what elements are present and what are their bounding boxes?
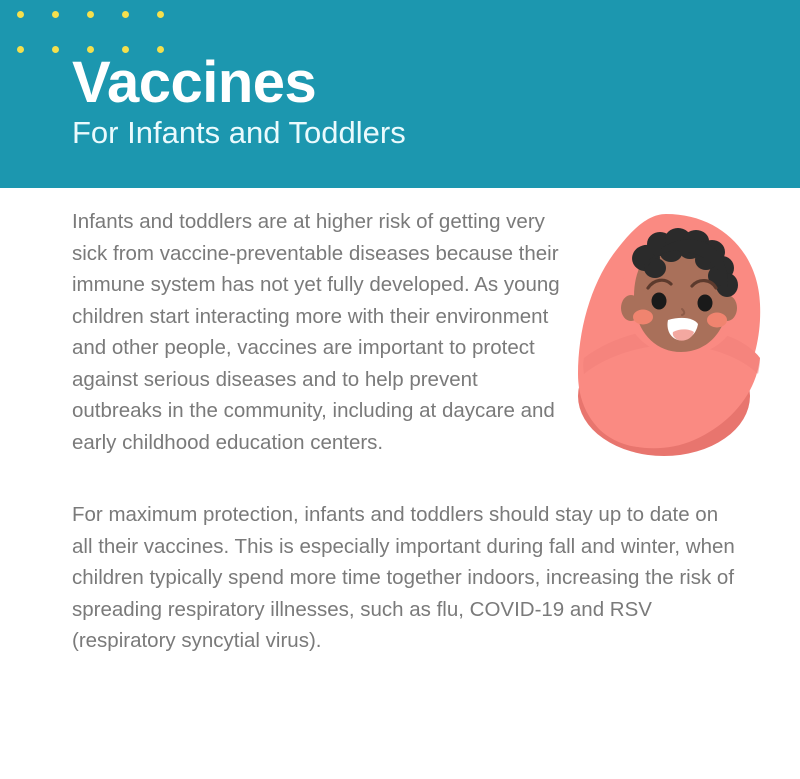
dot xyxy=(52,46,59,53)
dot xyxy=(52,11,59,18)
paragraph-protection-advice: For maximum protection, infants and todd… xyxy=(72,499,744,657)
footer-logos: COUNTY OF LOS ANGELES Public Health xyxy=(0,700,800,779)
title-block: Vaccines For Infants and Toddlers xyxy=(72,52,772,152)
paragraph-risk-explanation: Infants and toddlers are at higher risk … xyxy=(72,206,562,458)
swaddled-baby-illustration xyxy=(570,208,770,463)
header-banner: Vaccines For Infants and Toddlers xyxy=(0,0,800,188)
page-subtitle: For Infants and Toddlers xyxy=(72,114,772,152)
dot xyxy=(157,11,164,18)
dot xyxy=(122,11,129,18)
dot xyxy=(17,11,24,18)
dot xyxy=(17,46,24,53)
dot xyxy=(87,11,94,18)
infographic-page: Vaccines For Infants and Toddlers Infant… xyxy=(0,0,800,779)
page-title: Vaccines xyxy=(72,52,772,114)
